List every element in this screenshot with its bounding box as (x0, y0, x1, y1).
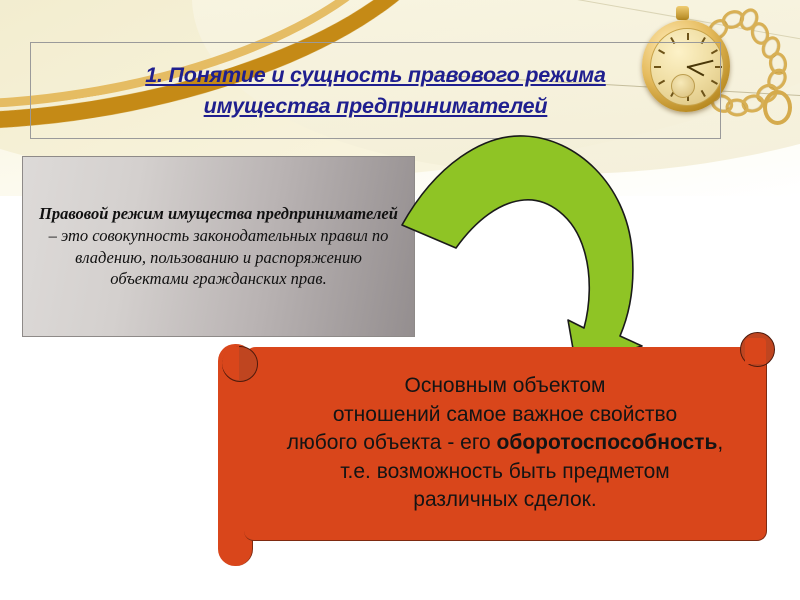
scroll-line-3-post: , (717, 431, 723, 454)
scroll-line-5: различных сделок. (287, 486, 723, 515)
scroll-banner: Основным объектом отношений самое важное… (200, 330, 800, 580)
scroll-line-3-emphasis: оборотоспособность (497, 431, 718, 454)
slide-title-box: 1. Понятие и сущность правового режимаим… (30, 42, 721, 139)
scroll-line-4: т.е. возможность быть предметом (287, 458, 723, 487)
title-line-1: 1. Понятие и сущность правового режима (145, 63, 606, 87)
scroll-line-3-pre: любого объекта - его (287, 431, 497, 454)
scroll-line-1: Основным объектом (287, 372, 723, 401)
watch-crown-icon (676, 6, 689, 20)
definition-text: Правовой режим имущества предпринимателе… (23, 203, 414, 291)
page-title: 1. Понятие и сущность правового режимаим… (125, 60, 626, 121)
chain-end-ring-icon (763, 90, 792, 125)
definition-term: Правовой режим имущества предпринимателе… (39, 204, 398, 223)
definition-box: Правовой режим имущества предпринимателе… (22, 156, 415, 337)
scroll-line-2: отношений самое важное свойство (287, 401, 723, 430)
slide-canvas: 1. Понятие и сущность правового режимаим… (0, 0, 800, 600)
scroll-line-3: любого объекта - его оборотоспособность, (287, 429, 723, 458)
definition-body: – это совокупность законодательных прави… (49, 226, 389, 289)
scroll-text: Основным объектом отношений самое важное… (244, 347, 766, 540)
title-line-2: имущества предпринимателей (204, 94, 548, 118)
